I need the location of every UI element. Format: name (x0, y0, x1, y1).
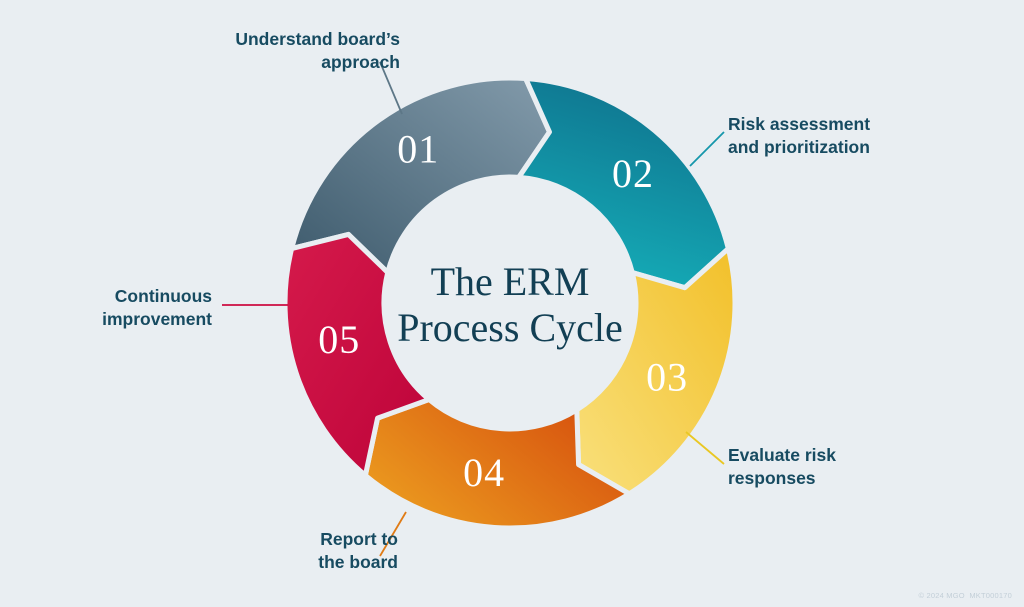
center-title-line1: The ERM (431, 259, 590, 304)
callout-label-03: Evaluate risk responses (728, 444, 978, 491)
segment-number-05: 05 (318, 317, 360, 362)
callout-label-01: Understand board’s approach (150, 28, 400, 75)
callout-label-02: Risk assessment and prioritization (728, 113, 978, 160)
leader-line-02 (690, 132, 724, 166)
segment-number-02: 02 (612, 151, 654, 196)
callout-label-04: Report to the board (150, 528, 398, 575)
callout-label-05: Continuous improvement (20, 285, 212, 332)
segment-number-04: 04 (463, 450, 505, 495)
leader-line-03 (686, 432, 724, 464)
center-title-line2: Process Cycle (397, 305, 623, 350)
segment-number-03: 03 (646, 354, 688, 399)
copyright-footer: © 2024 MGO MKT000170 (918, 591, 1012, 600)
segment-number-01: 01 (397, 127, 439, 172)
erm-process-cycle-diagram: 0102030405 The ERM Process Cycle Underst… (0, 0, 1024, 607)
